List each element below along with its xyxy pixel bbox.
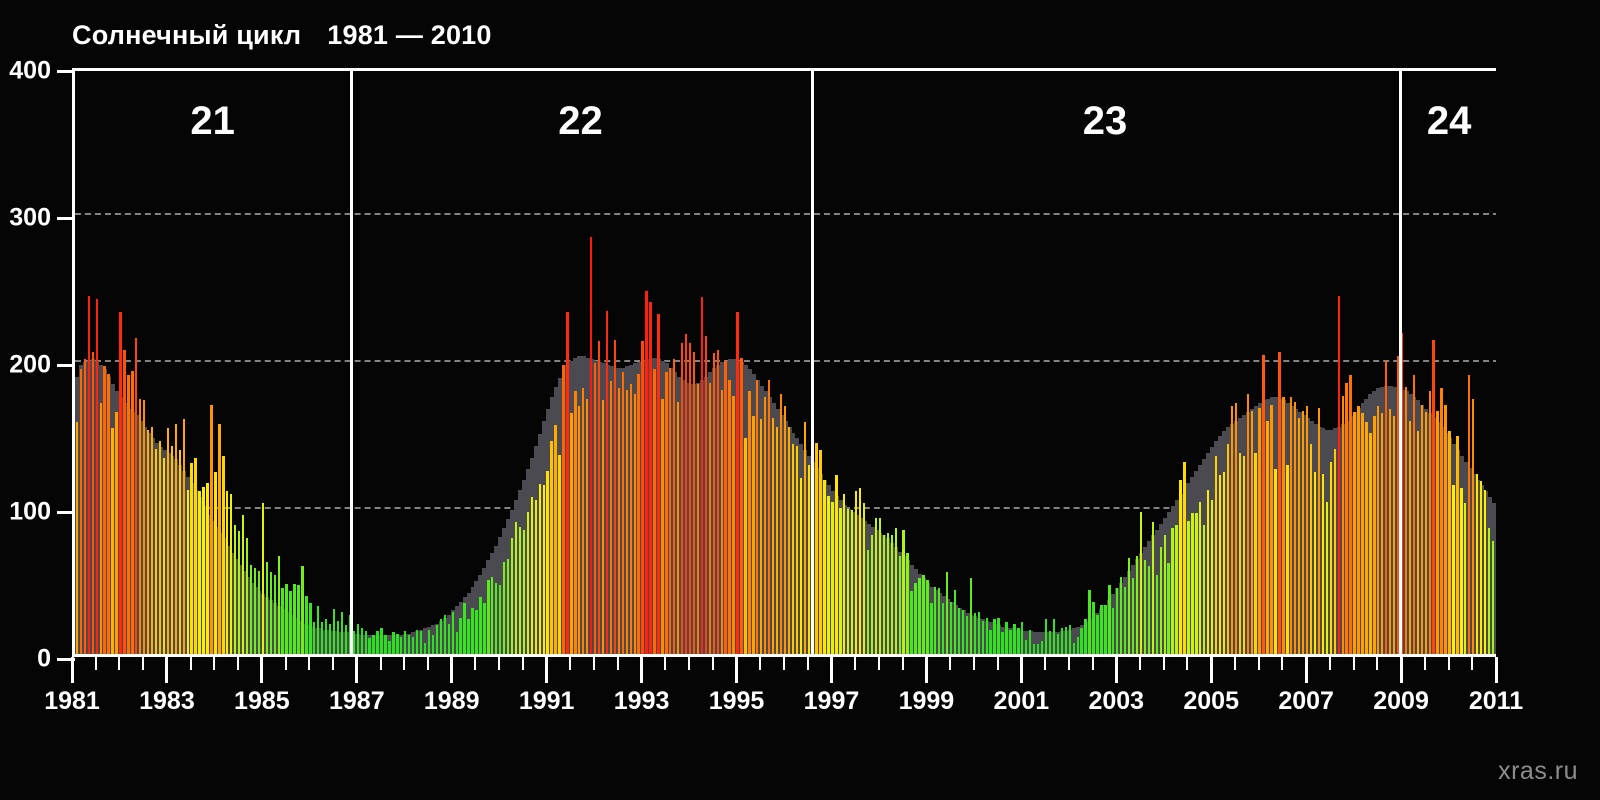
bar <box>835 475 837 656</box>
bar <box>1373 416 1375 656</box>
x-tick-minor <box>1044 657 1046 670</box>
bar <box>463 603 465 656</box>
bar <box>416 630 418 656</box>
bar <box>163 458 165 656</box>
bar <box>1365 422 1367 656</box>
bar <box>88 296 90 656</box>
bar <box>499 585 501 656</box>
bar <box>222 456 224 656</box>
bar <box>1061 628 1063 656</box>
bar <box>1357 406 1359 656</box>
bar <box>372 635 374 656</box>
x-tick-major <box>735 657 738 683</box>
bar <box>96 299 98 656</box>
bar <box>147 430 149 656</box>
bar <box>713 353 715 656</box>
bar <box>226 491 228 656</box>
bar <box>546 471 548 656</box>
bar <box>1488 528 1490 656</box>
bar <box>1140 512 1142 656</box>
x-tick-minor <box>997 657 999 670</box>
bar <box>942 603 944 656</box>
x-tick-minor <box>498 657 500 670</box>
bar <box>764 397 766 656</box>
bar <box>697 384 699 656</box>
bar <box>709 383 711 656</box>
bar <box>1405 387 1407 656</box>
x-axis-label-1987: 1987 <box>329 687 385 716</box>
bar <box>206 483 208 656</box>
bar <box>80 369 82 656</box>
bar <box>262 503 264 656</box>
bar <box>274 575 276 656</box>
bar <box>1322 474 1324 656</box>
bar <box>562 365 564 656</box>
bar <box>918 578 920 656</box>
bar <box>899 556 901 656</box>
bar <box>554 425 556 656</box>
bar <box>673 359 675 656</box>
x-axis-label-1999: 1999 <box>899 687 955 716</box>
bar <box>459 618 461 656</box>
bar <box>1425 412 1427 656</box>
bar <box>1187 521 1189 656</box>
x-tick-major <box>355 657 358 683</box>
bar <box>491 577 493 656</box>
bar <box>1005 622 1007 656</box>
x-tick-major <box>1210 657 1213 683</box>
bar <box>479 597 481 656</box>
x-tick-major <box>1400 657 1403 683</box>
y-axis-label-300: 300 <box>9 204 51 233</box>
x-tick-minor <box>854 657 856 670</box>
bar <box>297 585 299 656</box>
bar <box>1440 388 1442 656</box>
bar <box>1429 391 1431 656</box>
x-tick-minor <box>332 657 334 670</box>
x-axis-label-1997: 1997 <box>804 687 860 716</box>
bar <box>183 419 185 656</box>
bar <box>76 422 78 656</box>
bar <box>143 400 145 656</box>
bar <box>392 632 394 656</box>
page-title: Солнечный цикл1981 — 2010 <box>72 20 492 51</box>
bar <box>1492 541 1494 656</box>
bar <box>724 361 726 656</box>
x-tick-minor <box>759 657 761 670</box>
x-tick-minor <box>902 657 904 670</box>
y-tick-400 <box>57 70 75 73</box>
bar <box>1053 619 1055 656</box>
bar <box>1381 413 1383 656</box>
y-tick-300 <box>57 217 75 220</box>
bar <box>1266 421 1268 656</box>
bar <box>717 350 719 656</box>
bar <box>721 390 723 656</box>
bar <box>645 291 647 656</box>
bar <box>1243 456 1245 656</box>
x-tick-minor <box>1258 657 1260 670</box>
bar <box>705 336 707 656</box>
bar <box>1456 436 1458 657</box>
bar <box>1258 408 1260 656</box>
bar <box>511 538 513 656</box>
x-tick-minor <box>1092 657 1094 670</box>
bar <box>1409 421 1411 656</box>
bar <box>420 631 422 656</box>
bar <box>471 608 473 657</box>
x-tick-major <box>450 657 453 683</box>
bar <box>582 388 584 656</box>
bar <box>958 608 960 657</box>
bar <box>329 624 331 656</box>
bar <box>151 427 153 656</box>
cycle-number-label-24: 24 <box>1427 99 1472 144</box>
bar <box>843 494 845 656</box>
bar <box>1207 490 1209 656</box>
bar <box>736 312 738 656</box>
bar <box>218 424 220 656</box>
bar <box>1247 394 1249 656</box>
bar <box>1195 513 1197 656</box>
bar <box>361 628 363 656</box>
bar <box>1057 634 1059 656</box>
bar <box>1223 472 1225 656</box>
cycle-number-label-21: 21 <box>190 99 235 144</box>
bar <box>827 496 829 656</box>
bar <box>234 525 236 656</box>
bar <box>1330 462 1332 656</box>
bar <box>883 535 885 656</box>
bar <box>989 630 991 656</box>
bar <box>341 612 343 656</box>
bar <box>1278 352 1280 656</box>
bar <box>570 413 572 656</box>
bar <box>1116 588 1118 656</box>
x-tick-minor <box>783 657 785 670</box>
bar <box>507 559 509 656</box>
bar <box>1175 525 1177 656</box>
x-axis-label-1991: 1991 <box>519 687 575 716</box>
bar <box>384 635 386 656</box>
bar <box>1112 608 1114 657</box>
x-axis-label-2001: 2001 <box>994 687 1050 716</box>
bar <box>950 602 952 656</box>
bar <box>693 352 695 656</box>
x-tick-minor <box>688 657 690 670</box>
bar <box>1361 413 1363 656</box>
bar <box>1128 558 1130 656</box>
x-tick-minor <box>712 657 714 670</box>
bar <box>630 384 632 656</box>
bar <box>1432 340 1434 656</box>
x-tick-minor <box>522 657 524 670</box>
bar <box>1231 406 1233 656</box>
bar <box>641 341 643 656</box>
bar <box>681 343 683 656</box>
x-tick-minor <box>237 657 239 670</box>
x-axis-label-1989: 1989 <box>424 687 480 716</box>
bar <box>938 588 940 656</box>
x-tick-major <box>640 657 643 683</box>
x-tick-minor <box>1234 657 1236 670</box>
x-tick-minor <box>190 657 192 670</box>
x-tick-minor <box>1163 657 1165 670</box>
bar <box>100 403 102 656</box>
bar <box>970 578 972 656</box>
bar <box>792 444 794 656</box>
bar <box>1239 453 1241 656</box>
bar <box>337 621 339 656</box>
bar <box>974 613 976 656</box>
bar <box>436 625 438 656</box>
bar <box>1302 411 1304 656</box>
cycle-separator <box>350 71 353 656</box>
bar <box>1013 624 1015 656</box>
bar <box>1179 480 1181 656</box>
bar <box>875 518 877 656</box>
bar <box>610 381 612 656</box>
bar <box>914 583 916 657</box>
bar <box>432 635 434 656</box>
bar <box>1049 631 1051 656</box>
bar <box>230 494 232 656</box>
x-axis-label-1993: 1993 <box>614 687 670 716</box>
bar <box>309 603 311 656</box>
bar <box>1203 525 1205 656</box>
x-tick-minor <box>118 657 120 670</box>
bar <box>159 441 161 656</box>
bar <box>748 391 750 656</box>
bar <box>131 371 133 656</box>
bar <box>1104 605 1106 656</box>
bar <box>1452 485 1454 656</box>
bar <box>1338 296 1340 656</box>
bar <box>285 584 287 656</box>
bar <box>788 427 790 656</box>
bar <box>380 628 382 656</box>
bar <box>1306 406 1308 656</box>
bar <box>902 530 904 656</box>
bar <box>1254 453 1256 656</box>
x-axis-label-1981: 1981 <box>44 687 100 716</box>
bar <box>325 619 327 656</box>
bar <box>1065 627 1067 656</box>
bar <box>1021 622 1023 656</box>
bar <box>1009 630 1011 656</box>
x-tick-minor <box>285 657 287 670</box>
x-tick-major <box>830 657 833 683</box>
bar <box>1215 456 1217 656</box>
bar <box>1152 522 1154 656</box>
bar <box>313 622 315 656</box>
x-tick-major <box>1115 657 1118 683</box>
x-axis-label-1983: 1983 <box>139 687 195 716</box>
x-tick-minor <box>664 657 666 670</box>
x-axis-label-2009: 2009 <box>1373 687 1429 716</box>
bar <box>982 621 984 656</box>
bar <box>1377 406 1379 656</box>
bar <box>440 619 442 656</box>
x-tick-minor <box>474 657 476 670</box>
bar <box>1472 399 1474 656</box>
y-tick-200 <box>57 364 75 367</box>
x-tick-minor <box>617 657 619 670</box>
bar <box>139 399 141 656</box>
bar <box>270 572 272 656</box>
bar <box>408 635 410 656</box>
bar <box>891 535 893 656</box>
bar <box>321 622 323 656</box>
bar <box>1001 632 1003 656</box>
bar <box>819 450 821 656</box>
bar <box>404 631 406 656</box>
bar <box>1017 628 1019 656</box>
bar <box>155 449 157 656</box>
bar <box>539 484 541 656</box>
y-axis-label-0: 0 <box>37 645 51 674</box>
bar <box>444 615 446 656</box>
bar <box>1282 397 1284 656</box>
bar <box>661 399 663 656</box>
bar <box>1448 431 1450 656</box>
bar <box>1144 560 1146 656</box>
bar <box>317 606 319 656</box>
bar <box>1088 590 1090 656</box>
bar <box>333 609 335 656</box>
x-tick-minor <box>807 657 809 670</box>
bar <box>895 528 897 656</box>
bar <box>523 530 525 656</box>
bar <box>1084 619 1086 656</box>
bar <box>772 418 774 656</box>
x-axis-label-2005: 2005 <box>1183 687 1239 716</box>
bar <box>831 502 833 656</box>
bar <box>1290 397 1292 656</box>
bar <box>123 350 125 656</box>
bar <box>210 405 212 656</box>
bar <box>855 491 857 656</box>
bar <box>301 566 303 656</box>
bar <box>483 603 485 656</box>
x-tick-minor <box>1329 657 1331 670</box>
bar <box>281 588 283 656</box>
bar <box>495 583 497 657</box>
bar <box>1045 619 1047 656</box>
bar <box>1294 402 1296 656</box>
bar <box>1262 355 1264 656</box>
bar <box>365 631 367 656</box>
bar <box>701 297 703 656</box>
bar <box>1369 433 1371 656</box>
x-tick-minor <box>213 657 215 670</box>
cycle-number-label-22: 22 <box>558 99 603 144</box>
bar <box>289 591 291 656</box>
bar <box>111 428 113 656</box>
bar <box>1417 431 1419 656</box>
bar <box>1444 405 1446 656</box>
bar <box>637 374 639 656</box>
x-tick-minor <box>973 657 975 670</box>
bar <box>768 380 770 656</box>
bar <box>665 372 667 656</box>
bar <box>677 402 679 656</box>
x-tick-major <box>1020 657 1023 683</box>
bar <box>238 531 240 656</box>
x-tick-minor <box>142 657 144 670</box>
bar <box>1199 502 1201 656</box>
bar <box>863 503 865 656</box>
x-tick-minor <box>308 657 310 670</box>
bar <box>669 368 671 656</box>
bar <box>1167 563 1169 656</box>
bar <box>594 363 596 656</box>
x-axis-label-2007: 2007 <box>1278 687 1334 716</box>
x-tick-minor <box>1186 657 1188 670</box>
x-tick-major <box>1495 657 1498 683</box>
y-axis-label-200: 200 <box>9 351 51 380</box>
bar <box>1274 469 1276 656</box>
bar <box>503 562 505 656</box>
bar <box>1132 578 1134 656</box>
bar <box>1270 405 1272 656</box>
bar <box>634 394 636 656</box>
x-tick-minor <box>1471 657 1473 670</box>
bar <box>1484 490 1486 656</box>
bar <box>1251 411 1253 656</box>
bar <box>1349 375 1351 656</box>
bar <box>808 465 810 656</box>
x-tick-minor <box>569 657 571 670</box>
bar <box>202 487 204 656</box>
bar <box>649 302 651 656</box>
x-tick-minor <box>593 657 595 670</box>
bar <box>922 575 924 656</box>
bar <box>1460 488 1462 656</box>
bar <box>190 463 192 656</box>
bar <box>1436 411 1438 656</box>
bar <box>602 400 604 656</box>
gridline-y-300 <box>75 213 1496 215</box>
bar <box>978 612 980 656</box>
bar <box>796 446 798 656</box>
x-tick-minor <box>949 657 951 670</box>
y-tick-100 <box>57 511 75 514</box>
x-tick-minor <box>878 657 880 670</box>
bar <box>278 556 280 656</box>
bar <box>930 603 932 656</box>
x-tick-major <box>1305 657 1308 683</box>
bar <box>345 625 347 656</box>
x-tick-minor <box>1376 657 1378 670</box>
x-axis-label-2011: 2011 <box>1469 687 1523 716</box>
y-axis-label-100: 100 <box>9 498 51 527</box>
bar <box>1092 602 1094 656</box>
bar <box>107 374 109 656</box>
x-tick-minor <box>1353 657 1355 670</box>
bar <box>744 438 746 656</box>
bar <box>1464 503 1466 656</box>
bar <box>574 391 576 656</box>
bar <box>728 380 730 656</box>
bar <box>1120 577 1122 656</box>
bar <box>780 394 782 656</box>
bar <box>92 352 94 656</box>
bar <box>428 630 430 656</box>
x-tick-minor <box>403 657 405 670</box>
bar <box>1219 475 1221 656</box>
bar <box>867 550 869 656</box>
